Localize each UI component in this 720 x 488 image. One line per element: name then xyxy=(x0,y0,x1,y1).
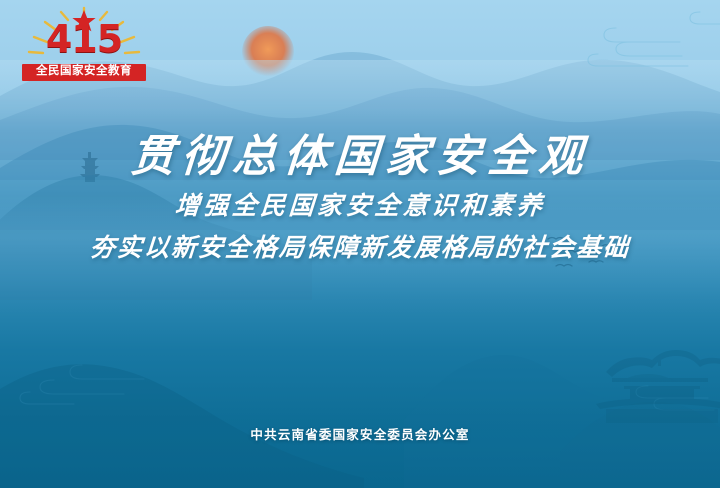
cloud-ornament-icon xyxy=(20,365,144,404)
cloud-ornament-icon xyxy=(636,386,714,410)
cloud-ornament-icon xyxy=(588,12,720,66)
footer-organization: 中共云南省委国家安全委员会办公室 xyxy=(0,424,720,443)
headline-subtitle-one: 增强全民国家安全意识和素养 xyxy=(0,193,720,222)
pavilion-temple-icon xyxy=(596,350,720,423)
campaign-logo: 415 全民国家安全教育 xyxy=(14,6,154,92)
headline-main-title: 贯彻总体国家安全观 xyxy=(0,132,720,181)
headline-subtitle-two: 夯实以新安全格局保障新发展格局的社会基础 xyxy=(0,235,720,264)
sun-icon xyxy=(242,26,294,78)
headline-block: 贯彻总体国家安全观 增强全民国家安全意识和素养 夯实以新安全格局保障新发展格局的… xyxy=(0,132,720,264)
logo-number: 415 xyxy=(14,20,154,58)
logo-subtitle: 全民国家安全教育 xyxy=(22,64,146,81)
poster-canvas: 415 全民国家安全教育 贯彻总体国家安全观 增强全民国家安全意识和素养 夯实以… xyxy=(0,0,720,488)
